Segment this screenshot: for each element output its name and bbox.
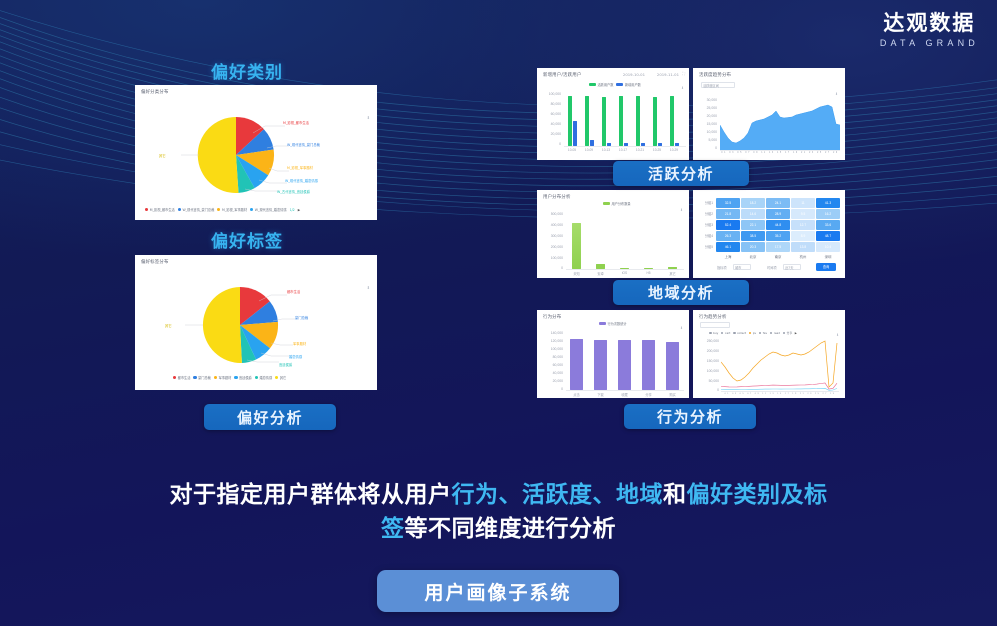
panel-title: 用户分布分析 (543, 194, 571, 200)
legend-item-4[interactable]: 婚恋情感 (255, 375, 272, 380)
heatmap-cell-0-2[interactable]: 24.1 (766, 198, 790, 208)
heatmap-cell-4-0[interactable]: 46.1 (716, 242, 740, 252)
panel-behavior-bar[interactable]: 行为分布 行为次数统计 ⬇ 140,000 120,000 100,000 80… (537, 310, 689, 398)
bar-behavior-1 (594, 340, 607, 390)
legend-label: 用户分布数量 (612, 201, 631, 206)
y-tick: 120,000 (539, 339, 563, 343)
panel-preference-tag-pie[interactable]: 偏好标签分布 ⬇ 都市生活 豪门总裁 军事题材 婚恋情感 (135, 255, 377, 390)
heatmap-cell-4-4[interactable]: 10.4 (816, 242, 840, 252)
legend-item-0[interactable]: 行为次数统计 (599, 321, 627, 326)
bar-new-5 (658, 143, 662, 146)
heatmap-row-label-4: 分组5 (697, 244, 713, 249)
heatmap-row-label-0: 分组1 (697, 200, 713, 205)
x-tick: 点击 (565, 392, 588, 397)
legend-item-2[interactable]: M_影视_军事题材 (217, 207, 247, 212)
legend-label: 宫廷侯爵 (239, 375, 252, 380)
heatmap-cell-3-2[interactable]: 35.2 (766, 231, 790, 241)
legend-item-4[interactable]: fav (759, 331, 767, 335)
bar-region-1 (596, 264, 605, 269)
legend-item-0[interactable]: M_影视_都市生活 (145, 207, 175, 212)
bar-region-2 (620, 268, 629, 269)
heatmap-cell-2-4[interactable]: 33.6 (816, 220, 840, 230)
pie-label-1: 豪门总裁 (295, 315, 308, 320)
bar-behavior-0 (570, 339, 583, 390)
heatmap-col-label-3: 杭州 (791, 254, 815, 259)
legend-dot-icon (783, 332, 786, 335)
pie-legend-category[interactable]: M_影视_都市生活 W_现代言情_豪门总裁 M_影视_军事题材 W_现代言情_婚… (145, 207, 300, 212)
x-tick: 未知 (565, 271, 588, 276)
bar-new-6 (675, 143, 679, 146)
panel-behavior-line[interactable]: 行为趋势分析 ⬇ buy cart collect pv fav (693, 310, 845, 398)
legend-dot-icon (709, 332, 712, 335)
x-tick: 收藏 (613, 392, 636, 397)
bar-region-3 (644, 268, 653, 269)
heatmap-row-label-2: 分组3 (697, 222, 713, 227)
heatmap-cell-3-4[interactable]: 48.7 (816, 231, 840, 241)
legend-label: 新增用户数 (625, 82, 641, 87)
bar-active-2 (602, 97, 606, 146)
legend-label: 分享 (787, 331, 793, 335)
legend-label: 军事题材 (219, 375, 232, 380)
y-tick: 80,000 (539, 355, 563, 359)
pie-label-4: 宫廷侯爵 (279, 362, 292, 367)
legend-swatch-icon (616, 83, 623, 86)
heatmap-cell-1-1[interactable]: 14.6 (741, 209, 765, 219)
legend-label: collect (737, 331, 746, 335)
pill-region-analysis[interactable]: 地域分析 (613, 280, 749, 305)
y-tick: 500,000 (539, 212, 563, 216)
expand-icon[interactable]: ⛶ (682, 71, 685, 76)
legend-dot-icon (255, 376, 258, 379)
bar-behavior-4 (666, 342, 679, 391)
heatmap-cell-0-4[interactable]: 41.3 (816, 198, 840, 208)
logo-text-en: DATA GRAND (880, 38, 979, 48)
heatmap-cell-0-0[interactable]: 32.5 (716, 198, 740, 208)
y-tick: 0 (695, 146, 717, 150)
legend-item-1[interactable]: cart (721, 331, 731, 335)
legend-label: W_现代言情_豪门总裁 (182, 207, 214, 212)
y-tick: 5,000 (695, 138, 717, 142)
x-tick: 安卓 (589, 271, 612, 276)
download-icon[interactable]: ⬇ (681, 86, 684, 90)
date-from-field[interactable]: 2019-10-01 (623, 72, 645, 77)
legend-page-indicator[interactable]: 1/2 (290, 208, 295, 212)
bar-active-0 (568, 96, 572, 146)
pie-label-2: 军事题材 (293, 341, 306, 346)
legend-dot-icon (275, 376, 278, 379)
bar-behavior-legend[interactable]: 行为次数统计 (599, 321, 627, 326)
pie-label-1: W_现代言情_豪门总裁 (287, 142, 320, 147)
heatmap-cell-1-4[interactable]: 16.2 (816, 209, 840, 219)
legend-label: W_现代言情_婚恋情感 (255, 207, 287, 212)
legend-label: pv (753, 331, 756, 335)
panel-title: 偏好标签分布 (141, 259, 169, 265)
legend-item-3[interactable]: pv (749, 331, 757, 335)
legend-dot-icon (178, 208, 181, 211)
heatmap-col-label-1: 北京 (741, 254, 765, 259)
y-tick: 200,000 (539, 245, 563, 249)
legend-swatch-icon (603, 202, 610, 205)
pie-label-3: 婚恋情感 (289, 354, 302, 359)
slide-root: 达观数据 DATA GRAND 偏好类别 偏好标签 偏好分类分布 ⬇ (0, 0, 997, 626)
legend-next-icon[interactable]: ▶ (795, 331, 797, 335)
legend-item-5[interactable]: read (770, 331, 780, 335)
legend-item-1[interactable]: 新增用户数 (616, 82, 640, 87)
legend-dot-icon (250, 208, 253, 211)
legend-item-1[interactable]: 豪门总裁 (193, 375, 210, 380)
text-segment: 和 (663, 482, 687, 508)
legend-swatch-icon (599, 322, 606, 325)
download-icon[interactable]: ⬇ (367, 285, 370, 290)
panel-title: 行为趋势分析 (699, 314, 727, 320)
heatmap-cell-2-3[interactable]: 12.7 (791, 220, 815, 230)
legend-item-3[interactable]: 宫廷侯爵 (234, 375, 251, 380)
heatmap-cell-4-1[interactable]: 20.3 (741, 242, 765, 252)
bar-region-0 (572, 223, 581, 269)
legend-label: 都市生活 (178, 375, 191, 380)
heatmap-cell-2-2[interactable]: 44.8 (766, 220, 790, 230)
x-tick: 分享 (637, 392, 660, 397)
y-tick: 0 (539, 266, 563, 270)
heatmap-cell-1-0[interactable]: 21.8 (716, 209, 740, 219)
filter-label-1: 指标项 (717, 265, 727, 270)
heatmap-cell-3-0[interactable]: 26.3 (716, 231, 740, 241)
legend-dot-icon (759, 332, 762, 335)
pie-label-2: M_影视_军事题材 (287, 165, 313, 170)
download-icon[interactable]: ⬇ (680, 326, 683, 330)
filter-value-2: 近7天 (785, 265, 793, 270)
pie-label-0: 都市生活 (287, 289, 300, 294)
legend-dot-icon (145, 208, 148, 211)
legend-label: fav (763, 331, 767, 335)
legend-item-5[interactable]: 其它 (275, 375, 286, 380)
legend-label: 婚恋情感 (259, 375, 272, 380)
y-tick: 10,000 (695, 130, 717, 134)
y-tick: 30,000 (695, 98, 717, 102)
bar-active-5 (653, 97, 657, 146)
pie-chart-tag (185, 287, 295, 363)
x-axis-ticks: 01 03 05 07 09 11 13 15 17 19 21 23 25 2… (720, 152, 840, 154)
legend-dot-icon (770, 332, 773, 335)
y-tick: 15,000 (695, 122, 717, 126)
summary-line-1: 对于指定用户群体将从用户行为、活跃度、地域和偏好类别及标 (0, 478, 997, 512)
pill-activity-analysis[interactable]: 活跃分析 (613, 161, 749, 186)
legend-dot-icon (193, 376, 196, 379)
y-tick: 20,000 (539, 379, 563, 383)
date-to-field[interactable]: 2019-11-01 (657, 72, 679, 77)
heatmap-col-label-4: 深圳 (816, 254, 840, 259)
pill-behavior-analysis[interactable]: 行为分析 (624, 404, 756, 429)
summary-line-2: 签等不同维度进行分析 (0, 512, 997, 546)
legend-dot-icon (234, 376, 237, 379)
brand-logo: 达观数据 DATA GRAND (880, 10, 979, 48)
heatmap-cell-2-0[interactable]: 52.4 (716, 220, 740, 230)
legend-item-1[interactable]: W_现代言情_豪门总裁 (178, 207, 215, 212)
legend-label: M_影视_都市生活 (150, 207, 175, 212)
bar-new-3 (624, 143, 628, 146)
download-icon[interactable]: ⬇ (836, 333, 839, 337)
query-button[interactable]: 查询 (816, 263, 836, 271)
y-tick: 60,000 (539, 363, 563, 367)
legend-dot-icon (173, 376, 176, 379)
legend-item-6[interactable]: 分享 (783, 331, 793, 335)
pie-label-0: M_影视_都市生活 (283, 120, 309, 125)
y-tick: 100,000 (695, 369, 719, 373)
logo-text-cn: 达观数据 (880, 10, 979, 36)
legend-label: 其它 (280, 375, 286, 380)
legend-label: 活跃用户数 (598, 82, 614, 87)
y-tick: 140,000 (539, 331, 563, 335)
legend-item-2[interactable]: collect (733, 331, 746, 335)
text-segment: 等不同维度进行分析 (405, 516, 617, 542)
line-behavior-legend[interactable]: buy cart collect pv fav read (709, 331, 797, 335)
legend-item-0[interactable]: 都市生活 (173, 375, 190, 380)
area-chart-activity (720, 98, 840, 150)
legend-next-icon[interactable]: ▶ (298, 208, 300, 212)
y-tick: 100,000 (539, 347, 563, 351)
filter-value-1: 城市 (735, 265, 741, 270)
legend-label: buy (713, 331, 718, 335)
behavior-filter-select[interactable] (700, 322, 730, 328)
legend-dot-icon (749, 332, 752, 335)
legend-label: 行为次数统计 (608, 321, 627, 326)
heatmap-cell-3-3[interactable]: 8.9 (791, 231, 815, 241)
heatmap-cell-3-1[interactable]: 38.5 (741, 231, 765, 241)
legend-dot-icon (214, 376, 217, 379)
bar-region-legend[interactable]: 用户分布数量 (603, 201, 631, 206)
download-icon[interactable]: ⬇ (835, 92, 838, 96)
highlight-dimensions-1: 行为、活跃度、地域 (452, 482, 664, 508)
panel-title: 偏好分类分布 (141, 89, 169, 95)
bar-behavior-2 (618, 340, 631, 390)
heatmap-cell-2-1[interactable]: 22.1 (741, 220, 765, 230)
legend-item-3[interactable]: W_现代言情_婚恋情感 (250, 207, 287, 212)
x-axis-ticks: 01 03 05 07 09 11 13 15 17 19 21 23 25 2… (721, 393, 839, 395)
x-tick: 购买 (661, 392, 684, 397)
legend-dot-icon (721, 332, 724, 335)
legend-dot-icon (733, 332, 736, 335)
y-tick: 40,000 (539, 371, 563, 375)
y-tick: 400,000 (539, 223, 563, 227)
y-tick: 25,000 (695, 106, 717, 110)
heatmap-row-label-3: 分组4 (697, 233, 713, 238)
bar-active-1 (585, 96, 589, 146)
heatmap-col-label-0: 上海 (716, 254, 740, 259)
summary-paragraph: 对于指定用户群体将从用户行为、活跃度、地域和偏好类别及标 签等不同维度进行分析 (0, 478, 997, 546)
x-tick: H5 (637, 271, 660, 275)
pie-chart-category (181, 117, 291, 193)
panel-region-distribution-bar[interactable]: 用户分布分析 用户分布数量 ⬇ 500,000 400,000 300,000 … (537, 190, 689, 278)
bar-new-4 (641, 143, 645, 146)
y-tick: 0 (539, 387, 563, 391)
y-tick: 0 (539, 142, 561, 146)
y-tick: 150,000 (695, 359, 719, 363)
panel-preference-category-pie[interactable]: 偏好分类分布 ⬇ M_影视_都市生活 W_现代言情_豪门总裁 M_影视_ (135, 85, 377, 220)
bar-active-3 (619, 96, 623, 146)
x-tick: iOS (613, 271, 636, 275)
legend-label: M_影视_军事题材 (222, 207, 247, 212)
user-profile-subsystem-button[interactable]: 用户画像子系统 (377, 570, 619, 612)
bar-new-1 (590, 140, 594, 146)
legend-label: read (774, 331, 780, 335)
heatmap-row-label-1: 分组2 (697, 211, 713, 216)
legend-swatch-icon (589, 83, 596, 86)
pill-preference-analysis[interactable]: 偏好分析 (204, 404, 336, 430)
y-tick: 100,000 (539, 256, 563, 260)
select-value: 活跃度区间 (703, 83, 719, 88)
legend-label: 豪门总裁 (198, 375, 211, 380)
filter-label-2: 时间项 (767, 265, 777, 270)
bar-region-4 (668, 267, 677, 270)
pie-label-4: W_古代言情_宫廷侯爵 (277, 189, 310, 194)
y-tick: 50,000 (695, 379, 719, 383)
pie-label-other: 其它 (159, 153, 166, 158)
x-tick: 下载 (589, 392, 612, 397)
heatmap-cell-0-1[interactable]: 18.2 (741, 198, 765, 208)
y-tick: 20,000 (539, 132, 561, 136)
bar-active-4 (636, 96, 640, 146)
legend-label: cart (725, 331, 731, 335)
bar-active-legend[interactable]: 活跃用户数 新增用户数 (589, 82, 641, 87)
download-icon[interactable]: ⬇ (680, 208, 683, 212)
section-title-preference-category: 偏好类别 (211, 58, 283, 83)
legend-item-0[interactable]: buy (709, 331, 718, 335)
line-chart-behavior (721, 338, 839, 391)
panel-title: 新增用户/活跃用户 (543, 72, 581, 78)
legend-item-0[interactable]: 活跃用户数 (589, 82, 613, 87)
panel-active-bar[interactable]: 新增用户/活跃用户 2019-10-01 2019-11-01 ⛶ 活跃用户数 … (537, 68, 689, 160)
y-tick: 300,000 (539, 234, 563, 238)
bar-new-2 (607, 143, 611, 146)
download-icon[interactable]: ⬇ (367, 115, 370, 120)
panel-title: 活跃度趋势分布 (699, 72, 731, 78)
heatmap-cell-0-3[interactable]: 11 (791, 198, 815, 208)
highlight-dimensions-2: 偏好类别及标 (687, 482, 828, 508)
x-tick: 10-29 (663, 148, 685, 152)
highlight-dimensions-3: 签 (381, 516, 405, 542)
x-tick: 其它 (661, 271, 684, 276)
y-tick: 20,000 (695, 114, 717, 118)
heatmap-cell-1-2[interactable]: 28.9 (766, 209, 790, 219)
y-tick: 40,000 (539, 122, 561, 126)
bar-new-0 (573, 121, 577, 146)
bar-active-6 (670, 96, 674, 146)
y-tick: 0 (695, 388, 719, 392)
panel-region-heatmap[interactable]: 分组1 分组2 分组3 分组4 分组5 32.5 18.2 24.1 11 41… (693, 190, 845, 278)
pie-label-other: 其它 (165, 323, 172, 328)
panel-title: 行为分布 (543, 314, 561, 320)
pie-label-3: W_现代言情_婚恋情感 (285, 178, 318, 183)
y-tick: 200,000 (695, 349, 719, 353)
text-segment: 对于指定用户群体将从用户 (170, 482, 452, 508)
y-tick: 100,000 (539, 92, 561, 96)
bar-behavior-3 (642, 340, 655, 390)
y-tick: 80,000 (539, 102, 561, 106)
y-tick: 250,000 (695, 339, 719, 343)
legend-dot-icon (217, 208, 220, 211)
heatmap-col-label-2: 南京 (766, 254, 790, 259)
pie-legend-tag[interactable]: 都市生活 豪门总裁 军事题材 宫廷侯爵 婚恋情感 其它 (173, 375, 286, 380)
section-title-preference-tag: 偏好标签 (211, 227, 283, 252)
heatmap-cell-4-3[interactable]: 13.8 (791, 242, 815, 252)
panel-active-area[interactable]: 活跃度趋势分布 活跃度区间 ⬇ 30,000 25,000 20,000 15,… (693, 68, 845, 160)
y-tick: 60,000 (539, 112, 561, 116)
heatmap-cell-1-3[interactable]: 9.5 (791, 209, 815, 219)
legend-item-2[interactable]: 军事题材 (214, 375, 231, 380)
legend-item-0[interactable]: 用户分布数量 (603, 201, 631, 206)
heatmap-cell-4-2[interactable]: 17.5 (766, 242, 790, 252)
